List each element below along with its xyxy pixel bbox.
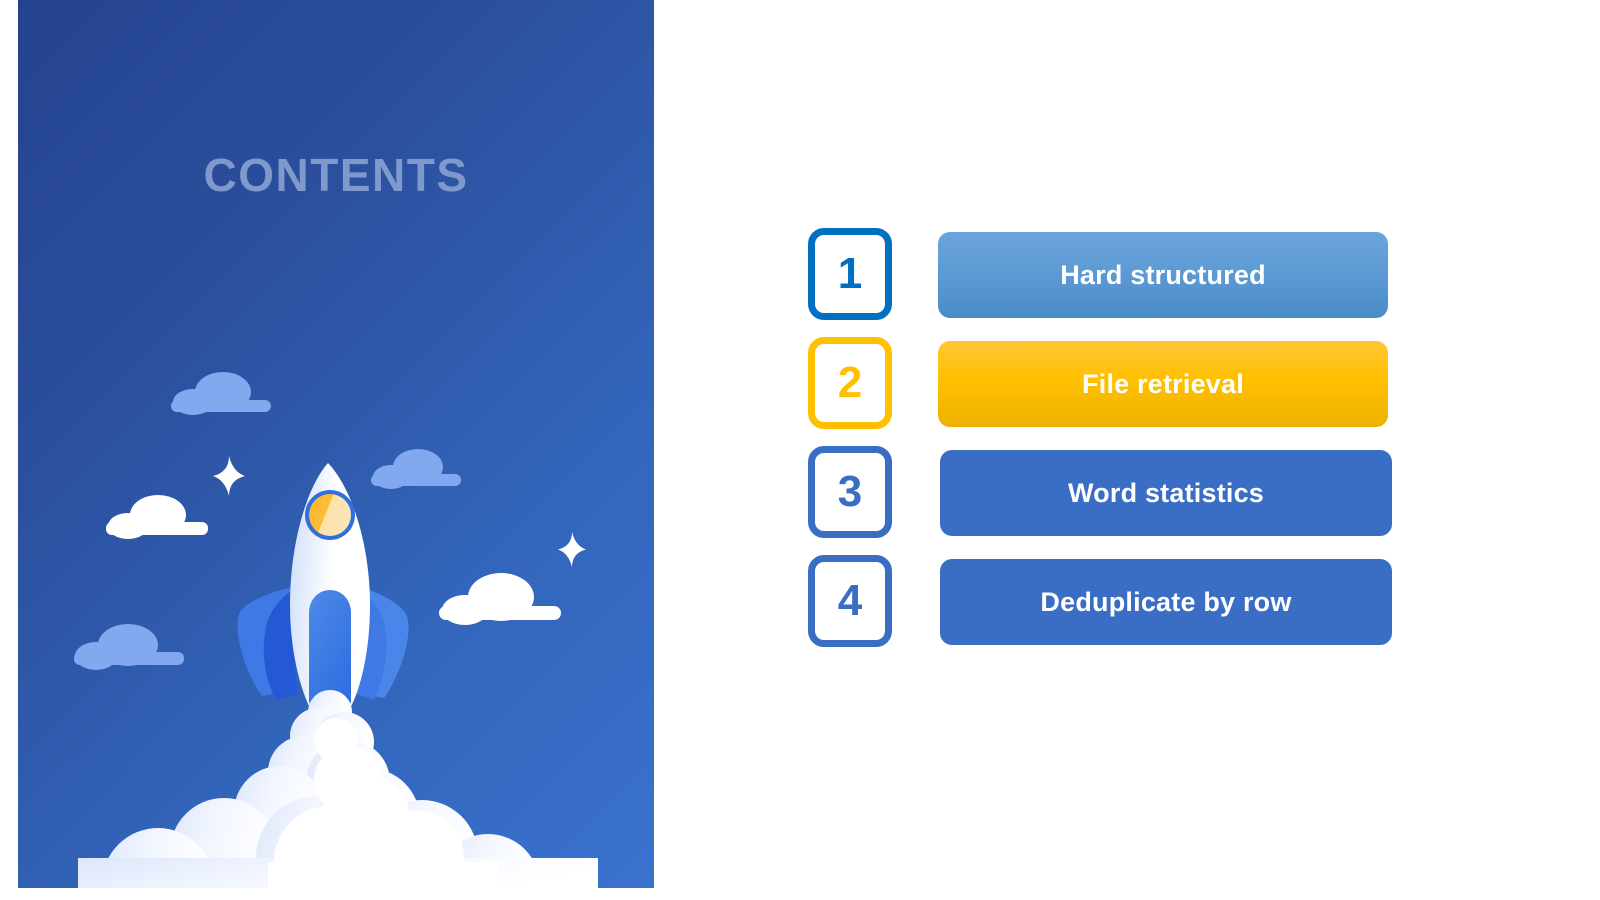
left-illustration-panel: CONTENTS <box>18 0 654 888</box>
window-glass-icon <box>309 494 351 536</box>
cloud-icon-left-white <box>106 495 208 539</box>
page-title: CONTENTS <box>18 148 654 202</box>
agenda-item-4[interactable]: 4 Deduplicate by row <box>808 555 1408 651</box>
agenda-label-bar-3[interactable]: Word statistics <box>940 450 1392 536</box>
cloud-icon-top-left <box>171 372 271 415</box>
agenda-label-bar-2[interactable]: File retrieval <box>938 341 1388 427</box>
cloud-icon-mid-right <box>371 449 461 489</box>
cloud-icon-bottom-left <box>74 624 184 670</box>
agenda-list: 1 Hard structured 2 File retrieval 3 Wor… <box>808 228 1408 658</box>
agenda-item-3[interactable]: 3 Word statistics <box>808 446 1408 542</box>
agenda-number-box-1: 1 <box>808 228 892 320</box>
agenda-number-box-2: 2 <box>808 337 892 429</box>
agenda-item-1[interactable]: 1 Hard structured <box>808 228 1408 324</box>
sparkle-icon-right <box>558 532 586 567</box>
agenda-label-bar-4[interactable]: Deduplicate by row <box>940 559 1392 645</box>
agenda-number-box-3: 3 <box>808 446 892 538</box>
sparkle-icon-left <box>213 456 245 496</box>
agenda-label-bar-1[interactable]: Hard structured <box>938 232 1388 318</box>
agenda-number-box-4: 4 <box>808 555 892 647</box>
rocket-launch-illustration <box>18 0 654 888</box>
cloud-icon-right-white <box>439 573 561 625</box>
agenda-item-2[interactable]: 2 File retrieval <box>808 337 1408 433</box>
slide-canvas: CONTENTS 1 Hard structured 2 File retrie… <box>0 0 1600 900</box>
